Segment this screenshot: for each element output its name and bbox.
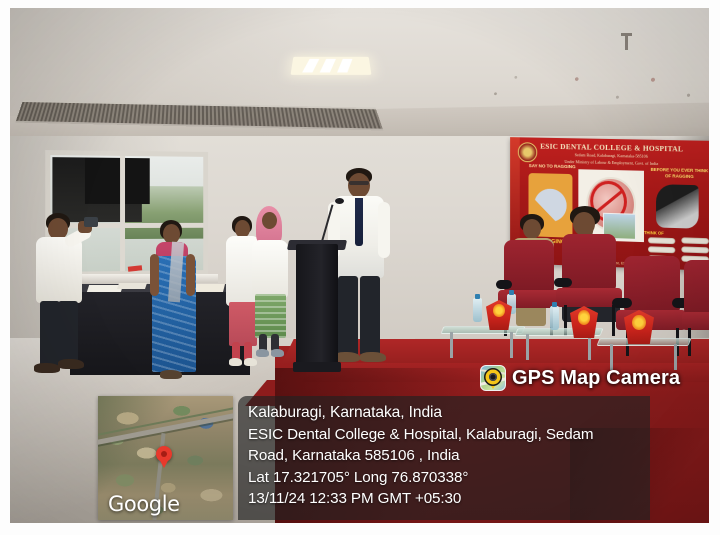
flower-bouquet — [570, 306, 598, 338]
podium-base — [293, 362, 341, 372]
person-woman-saree — [146, 220, 204, 380]
gps-datetime-line: 13/11/24 12:33 PM GMT +05:30 — [248, 488, 650, 510]
photo-canvas: ESIC DENTAL COLLEGE & HOSPITAL Sedam Roa… — [10, 8, 709, 523]
gps-map-camera-watermark: GPS Map Camera — [480, 365, 680, 391]
water-bottle — [550, 306, 559, 330]
banner-pill — [648, 237, 675, 244]
gps-address-line-2: Road, Karnataka 585106 , India — [248, 445, 650, 467]
window-mullion — [120, 156, 125, 271]
banner-think-of-label: THINK OF — [644, 230, 664, 236]
google-watermark: Google — [108, 492, 180, 516]
gps-coordinates-line: Lat 17.321705° Long 76.870338° — [248, 467, 650, 489]
person-hijab — [250, 206, 292, 364]
flower-bouquet — [624, 310, 654, 344]
gps-address-line-1: ESIC Dental College & Hospital, Kalabura… — [248, 424, 650, 446]
gps-info-panel: Kalaburagi, Karnataka, India ESIC Dental… — [238, 396, 650, 520]
window-curtain — [85, 158, 149, 205]
map-thumbnail[interactable]: Google — [98, 396, 233, 520]
banner-pill — [648, 247, 675, 254]
ceiling-hook — [625, 36, 628, 50]
screenshot-root: ESIC DENTAL COLLEGE & HOSPITAL Sedam Roa… — [0, 0, 720, 535]
gps-map-camera-title: GPS Map Camera — [512, 367, 680, 390]
flower-bouquet — [486, 300, 512, 330]
banner-figure-illustration — [656, 184, 698, 229]
map-location-pin-icon — [156, 446, 172, 462]
podium — [296, 244, 338, 372]
ceiling-light-panel — [291, 57, 372, 75]
banner-pill — [681, 246, 708, 253]
banner-slogan-left: SAY NO TO RAGGING — [528, 163, 576, 170]
person-photographer — [28, 213, 106, 378]
paper-sheet — [117, 283, 147, 289]
microphone-icon — [335, 198, 344, 204]
banner-slogan-right: BEFORE YOU EVER THINK OF RAGGING — [648, 167, 709, 180]
water-bottle — [473, 298, 482, 322]
banner-pill — [681, 237, 708, 244]
gps-map-camera-icon — [480, 365, 506, 391]
gps-city-line: Kalaburagi, Karnataka, India — [248, 402, 650, 424]
